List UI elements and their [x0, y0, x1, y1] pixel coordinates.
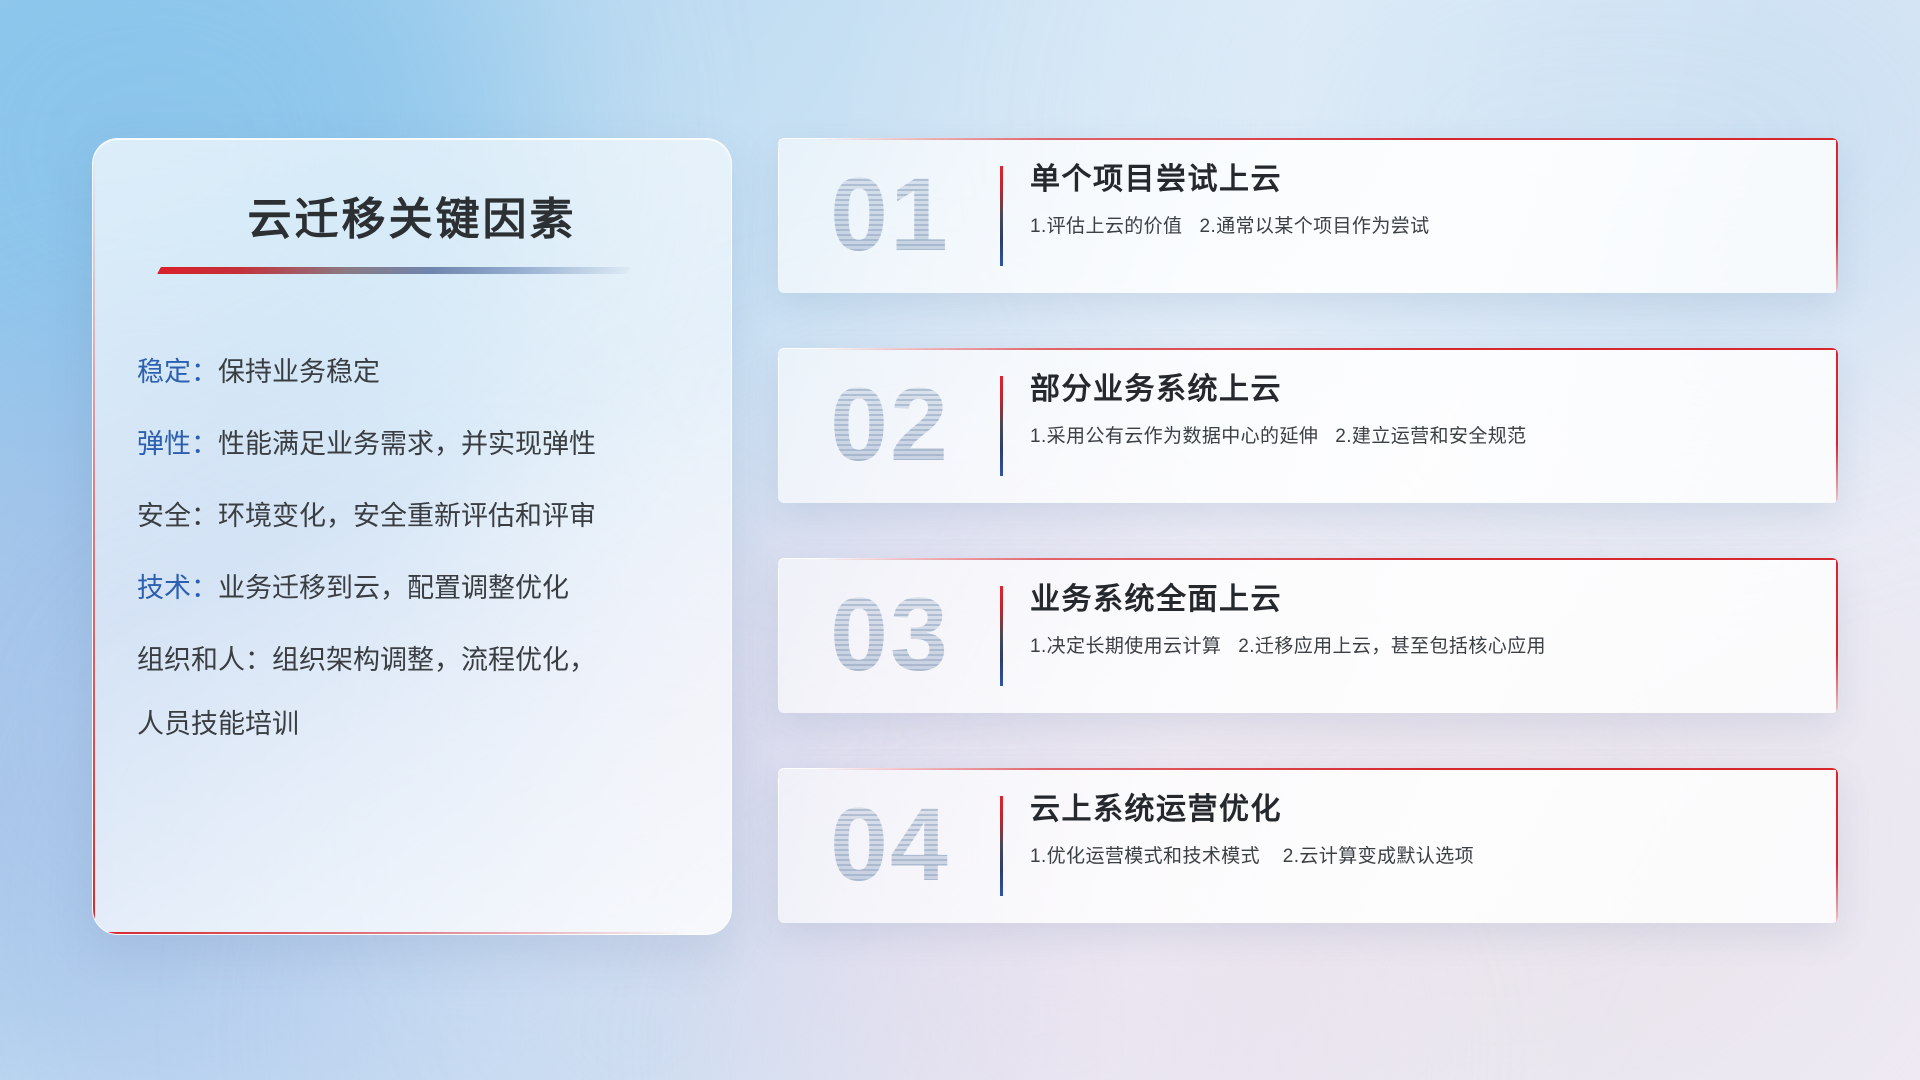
card-top-accent [818, 768, 1838, 770]
list-item-key: 组织和人： [137, 645, 272, 675]
key-factors-list: 稳定：保持业务稳定 弹性：性能满足业务需求，并实现弹性 安全：环境变化，安全重新… [137, 359, 705, 783]
step-title: 部分业务系统上云 [1030, 372, 1798, 408]
card-left-edge [778, 148, 779, 285]
step-number: 04 [800, 784, 980, 906]
card-top-accent [818, 138, 1838, 140]
list-item: 安全：环境变化，安全重新评估和评审 [137, 503, 705, 530]
step-divider [1000, 376, 1003, 476]
card-right-accent [1836, 348, 1838, 503]
list-item-key: 稳定： [137, 357, 218, 387]
list-item: 弹性：性能满足业务需求，并实现弹性 [137, 431, 705, 458]
step-subtitle: 1.决定长期使用云计算 2.迁移应用上云，甚至包括核心应用 [1030, 635, 1798, 660]
list-item: 稳定：保持业务稳定 [137, 359, 705, 386]
key-factors-panel: 云迁移关键因素 稳定：保持业务稳定 弹性：性能满足业务需求，并实现弹性 安全：环… [92, 138, 732, 935]
list-item-key: 安全： [137, 501, 218, 531]
card-top-accent [818, 558, 1838, 560]
list-item-value: 性能满足业务需求，并实现弹性 [218, 429, 596, 459]
card-right-accent [1836, 558, 1838, 713]
migration-steps-list: 01 单个项目尝试上云 1.评估上云的价值 2.通常以某个项目作为尝试 02 部… [778, 138, 1838, 978]
step-card[interactable]: 01 单个项目尝试上云 1.评估上云的价值 2.通常以某个项目作为尝试 [778, 138, 1838, 293]
step-card[interactable]: 02 部分业务系统上云 1.采用公有云作为数据中心的延伸 2.建立运营和安全规范 [778, 348, 1838, 503]
list-item: 人员技能培训 [137, 711, 705, 738]
card-left-edge [778, 778, 779, 915]
list-item-value: 业务迁移到云，配置调整优化 [218, 573, 569, 603]
list-item-key: 弹性： [137, 429, 218, 459]
list-item-value: 保持业务稳定 [218, 357, 380, 387]
step-title: 单个项目尝试上云 [1030, 162, 1798, 198]
step-number: 01 [800, 154, 980, 276]
step-card[interactable]: 04 云上系统运营优化 1.优化运营模式和技术模式 2.云计算变成默认选项 [778, 768, 1838, 923]
card-right-accent [1836, 768, 1838, 923]
step-subtitle: 1.优化运营模式和技术模式 2.云计算变成默认选项 [1030, 845, 1798, 870]
step-subtitle: 1.采用公有云作为数据中心的延伸 2.建立运营和安全规范 [1030, 425, 1798, 450]
step-title: 云上系统运营优化 [1030, 792, 1798, 828]
list-item-value: 环境变化，安全重新评估和评审 [218, 501, 596, 531]
page-title: 云迁移关键因素 [93, 183, 731, 247]
list-item-value: 组织架构调整，流程优化， [272, 645, 596, 675]
list-item: 技术：业务迁移到云，配置调整优化 [137, 575, 705, 602]
step-number: 03 [800, 574, 980, 696]
card-top-accent [818, 348, 1838, 350]
list-item: 组织和人：组织架构调整，流程优化， [137, 647, 705, 674]
card-left-edge [778, 568, 779, 705]
card-left-edge [778, 358, 779, 495]
card-right-accent [1836, 138, 1838, 293]
list-item-key: 技术： [137, 573, 218, 603]
step-divider [1000, 166, 1003, 266]
step-title: 业务系统全面上云 [1030, 582, 1798, 618]
list-item-value: 人员技能培训 [137, 709, 299, 739]
title-underline-accent [157, 267, 631, 274]
step-card[interactable]: 03 业务系统全面上云 1.决定长期使用云计算 2.迁移应用上云，甚至包括核心应… [778, 558, 1838, 713]
step-number: 02 [800, 364, 980, 486]
step-divider [1000, 796, 1003, 896]
step-subtitle: 1.评估上云的价值 2.通常以某个项目作为尝试 [1030, 215, 1798, 240]
step-divider [1000, 586, 1003, 686]
